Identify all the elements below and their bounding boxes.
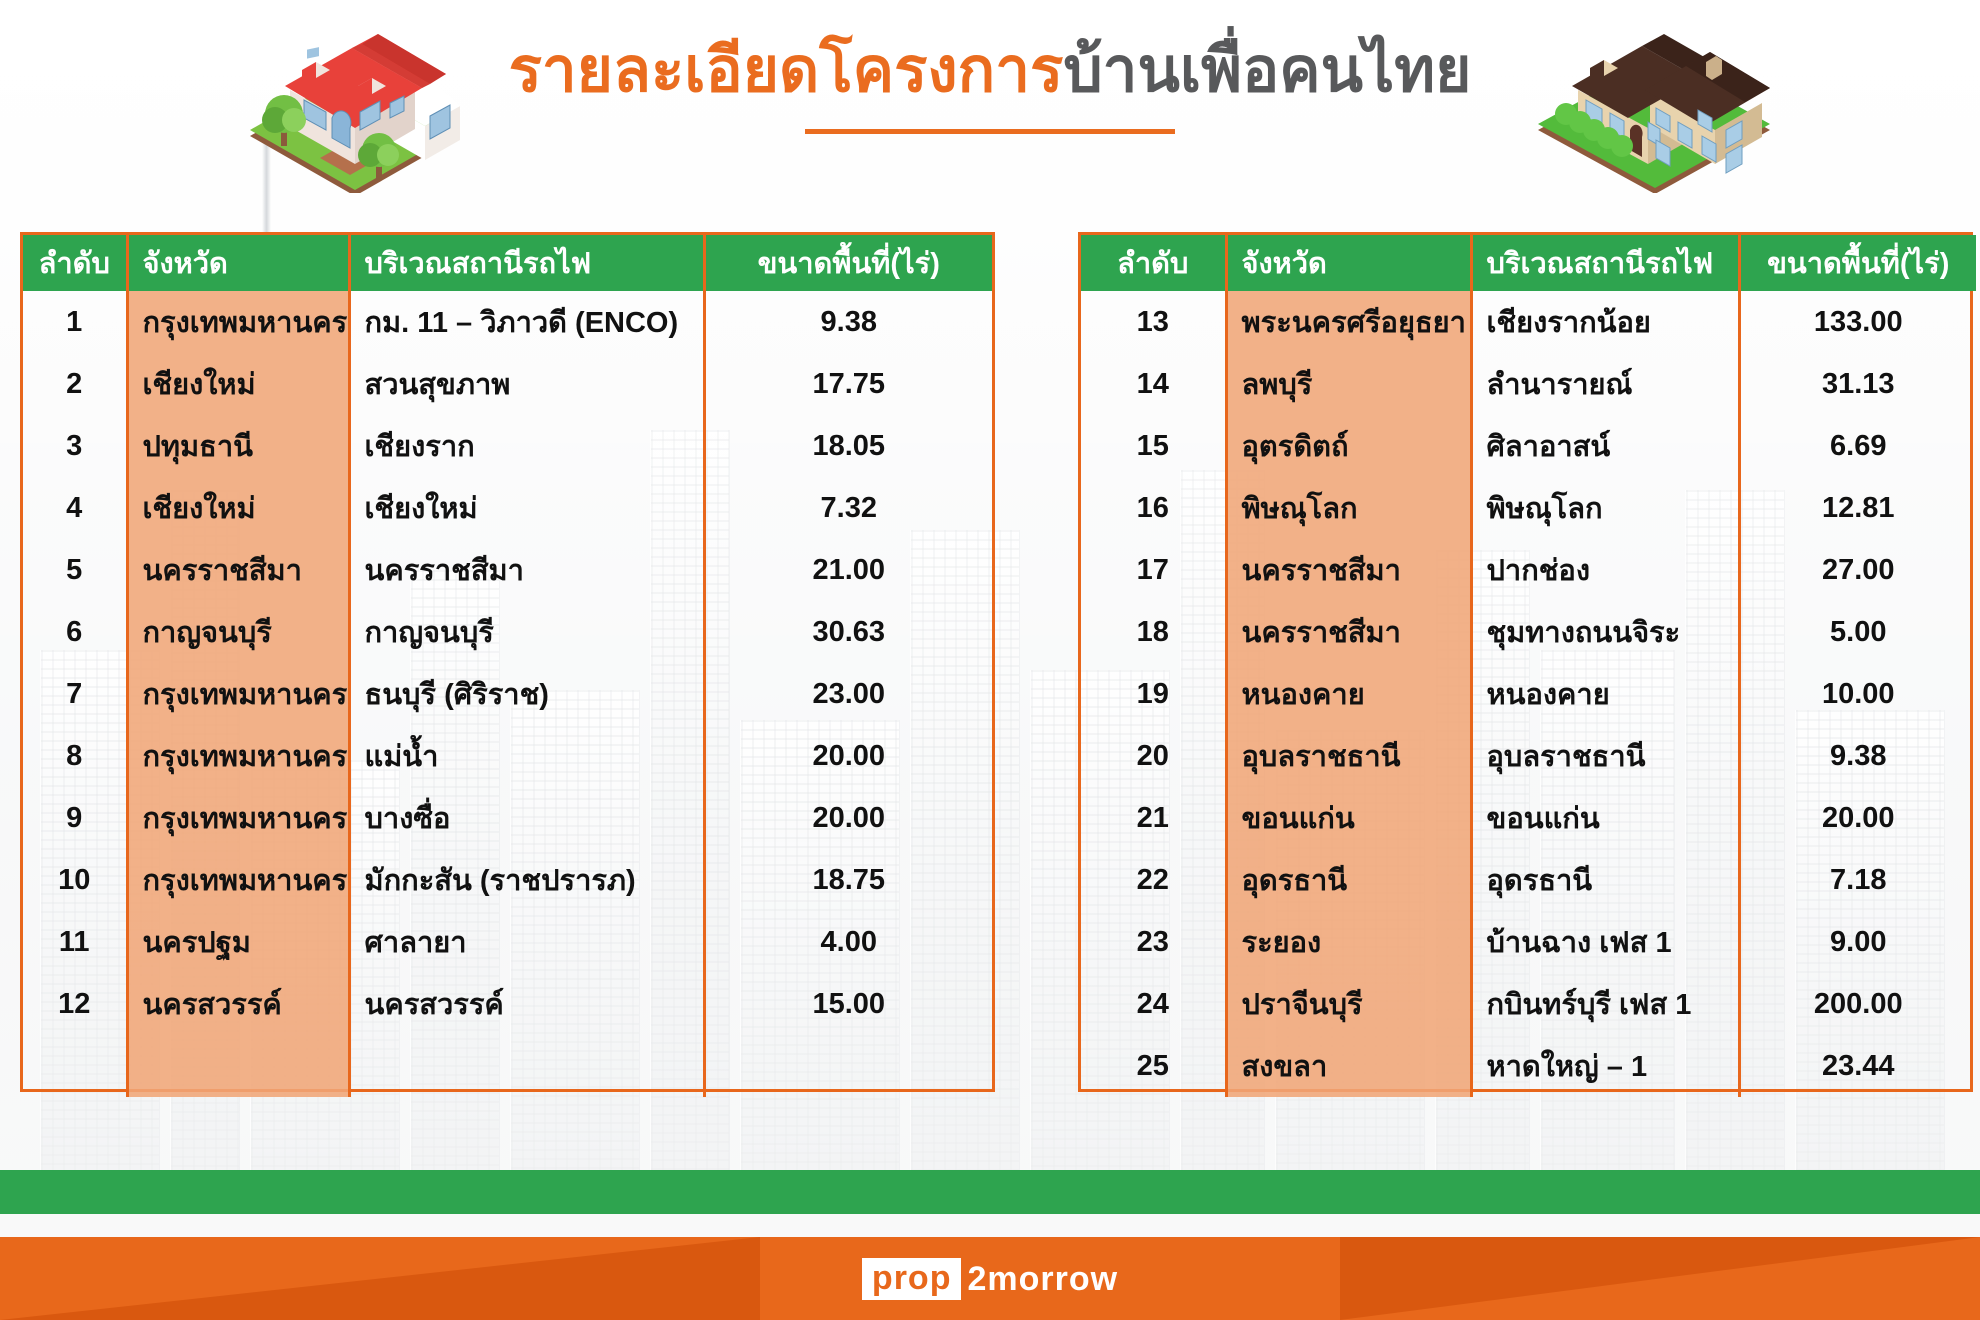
cell-area: 9.38 bbox=[1739, 725, 1976, 787]
cell-no: 21 bbox=[1081, 787, 1226, 849]
table-row: 14ลพบุรีลำนารายณ์31.13 bbox=[1081, 353, 1976, 415]
cell-area: 27.00 bbox=[1739, 539, 1976, 601]
table-row: 10กรุงเทพมหานครมักกะสัน (ราชปรารภ)18.75 bbox=[23, 849, 992, 911]
cell-station: ธนบุรี (ศิริราช) bbox=[349, 663, 704, 725]
page-title-orange: รายละเอียดโครงการ bbox=[509, 36, 1064, 105]
cell-area: 30.63 bbox=[704, 601, 992, 663]
cell-area: 4.00 bbox=[704, 911, 992, 973]
table-right-header: ลำดับ จังหวัด บริเวณสถานีรถไฟ ขนาดพื้นที… bbox=[1081, 235, 1976, 291]
cell-area: 18.75 bbox=[704, 849, 992, 911]
table-left-header: ลำดับ จังหวัด บริเวณสถานีรถไฟ ขนาดพื้นที… bbox=[23, 235, 992, 291]
cell-no: 8 bbox=[23, 725, 127, 787]
cell-station: เชียงใหม่ bbox=[349, 477, 704, 539]
cell-province: อุบลราชธานี bbox=[1226, 725, 1471, 787]
cell-no: 9 bbox=[23, 787, 127, 849]
cell-no: 24 bbox=[1081, 973, 1226, 1035]
cell-no: 20 bbox=[1081, 725, 1226, 787]
cell-area: 7.32 bbox=[704, 477, 992, 539]
cell-area: 5.00 bbox=[1739, 601, 1976, 663]
filler-cell bbox=[704, 1035, 992, 1097]
column-header-no: ลำดับ bbox=[1081, 235, 1226, 291]
logo-2morrow-text: 2morrow bbox=[967, 1262, 1118, 1296]
cell-no: 13 bbox=[1081, 291, 1226, 353]
projects-table-left: ลำดับ จังหวัด บริเวณสถานีรถไฟ ขนาดพื้นที… bbox=[20, 232, 995, 1092]
table-row: 25สงขลาหาดใหญ่ – 123.44 bbox=[1081, 1035, 1976, 1097]
column-header-province: จังหวัด bbox=[1226, 235, 1471, 291]
column-header-station: บริเวณสถานีรถไฟ bbox=[349, 235, 704, 291]
cell-province: กรุงเทพมหานคร bbox=[127, 725, 349, 787]
cell-area: 20.00 bbox=[1739, 787, 1976, 849]
footer-green-band bbox=[0, 1170, 1980, 1214]
table-row: 4เชียงใหม่เชียงใหม่7.32 bbox=[23, 477, 992, 539]
column-header-area: ขนาดพื้นที่(ไร่) bbox=[704, 235, 992, 291]
cell-station: บ้านฉาง เฟส 1 bbox=[1471, 911, 1739, 973]
cell-area: 31.13 bbox=[1739, 353, 1976, 415]
cell-area: 6.69 bbox=[1739, 415, 1976, 477]
cell-area: 133.00 bbox=[1739, 291, 1976, 353]
cell-area: 7.18 bbox=[1739, 849, 1976, 911]
cell-station: ศิลาอาสน์ bbox=[1471, 415, 1739, 477]
table-row: 1กรุงเทพมหานครกม. 11 – วิภาวดี (ENCO)9.3… bbox=[23, 291, 992, 353]
column-header-area: ขนาดพื้นที่(ไร่) bbox=[1739, 235, 1976, 291]
cell-station: นครสวรรค์ bbox=[349, 973, 704, 1035]
cell-area: 18.05 bbox=[704, 415, 992, 477]
column-header-no: ลำดับ bbox=[23, 235, 127, 291]
cell-station: เชียงรากน้อย bbox=[1471, 291, 1739, 353]
cell-station: มักกะสัน (ราชปรารภ) bbox=[349, 849, 704, 911]
cell-area: 9.38 bbox=[704, 291, 992, 353]
cell-station: ลำนารายณ์ bbox=[1471, 353, 1739, 415]
cell-station: ชุมทางถนนจิระ bbox=[1471, 601, 1739, 663]
table-row: 13พระนครศรีอยุธยาเชียงรากน้อย133.00 bbox=[1081, 291, 1976, 353]
table-row: 8กรุงเทพมหานครแม่น้ำ20.00 bbox=[23, 725, 992, 787]
table-row: 16พิษณุโลกพิษณุโลก12.81 bbox=[1081, 477, 1976, 539]
table-right: ลำดับ จังหวัด บริเวณสถานีรถไฟ ขนาดพื้นที… bbox=[1081, 235, 1976, 1097]
cell-no: 23 bbox=[1081, 911, 1226, 973]
cell-province: ลพบุรี bbox=[1226, 353, 1471, 415]
cell-station: หาดใหญ่ – 1 bbox=[1471, 1035, 1739, 1097]
brand-logo: prop2morrow bbox=[0, 1237, 1980, 1320]
cell-no: 2 bbox=[23, 353, 127, 415]
cell-no: 19 bbox=[1081, 663, 1226, 725]
cell-station: อุดรธานี bbox=[1471, 849, 1739, 911]
cell-area: 17.75 bbox=[704, 353, 992, 415]
cell-area: 21.00 bbox=[704, 539, 992, 601]
cell-area: 23.00 bbox=[704, 663, 992, 725]
cell-area: 20.00 bbox=[704, 787, 992, 849]
cell-province: ปราจีนบุรี bbox=[1226, 973, 1471, 1035]
table-row: 17นครราชสีมาปากช่อง27.00 bbox=[1081, 539, 1976, 601]
cell-no: 12 bbox=[23, 973, 127, 1035]
cell-area: 15.00 bbox=[704, 973, 992, 1035]
column-header-station: บริเวณสถานีรถไฟ bbox=[1471, 235, 1739, 291]
table-row: 19หนองคายหนองคาย10.00 bbox=[1081, 663, 1976, 725]
cell-no: 17 bbox=[1081, 539, 1226, 601]
table-row: 23ระยองบ้านฉาง เฟส 19.00 bbox=[1081, 911, 1976, 973]
cell-no: 6 bbox=[23, 601, 127, 663]
cell-no: 11 bbox=[23, 911, 127, 973]
cell-province: นครราชสีมา bbox=[1226, 601, 1471, 663]
cell-station: อุบลราชธานี bbox=[1471, 725, 1739, 787]
cell-area: 9.00 bbox=[1739, 911, 1976, 973]
cell-no: 3 bbox=[23, 415, 127, 477]
cell-station: เชียงราก bbox=[349, 415, 704, 477]
cell-province: อุตรดิตถ์ bbox=[1226, 415, 1471, 477]
table-row: 3ปทุมธานีเชียงราก18.05 bbox=[23, 415, 992, 477]
cell-province: พระนครศรีอยุธยา bbox=[1226, 291, 1471, 353]
cell-province: ขอนแก่น bbox=[1226, 787, 1471, 849]
cell-province: หนองคาย bbox=[1226, 663, 1471, 725]
table-row: 2เชียงใหม่สวนสุขภาพ17.75 bbox=[23, 353, 992, 415]
cell-station: บางซื่อ bbox=[349, 787, 704, 849]
cell-province: กรุงเทพมหานคร bbox=[127, 291, 349, 353]
header-row: ลำดับ จังหวัด บริเวณสถานีรถไฟ ขนาดพื้นที… bbox=[23, 235, 992, 291]
table-row: 9กรุงเทพมหานครบางซื่อ20.00 bbox=[23, 787, 992, 849]
filler-cell bbox=[23, 1035, 127, 1097]
column-header-province: จังหวัด bbox=[127, 235, 349, 291]
cell-no: 16 bbox=[1081, 477, 1226, 539]
cell-province: ระยอง bbox=[1226, 911, 1471, 973]
cell-province: กาญจนบุรี bbox=[127, 601, 349, 663]
cell-no: 22 bbox=[1081, 849, 1226, 911]
cell-station: ปากช่อง bbox=[1471, 539, 1739, 601]
cell-no: 15 bbox=[1081, 415, 1226, 477]
cell-province: นครสวรรค์ bbox=[127, 973, 349, 1035]
table-row: 20อุบลราชธานีอุบลราชธานี9.38 bbox=[1081, 725, 1976, 787]
page-title-gray: บ้านเพื่อคนไทย bbox=[1063, 36, 1471, 105]
table-row: 24ปราจีนบุรีกบินทร์บุรี เฟส 1200.00 bbox=[1081, 973, 1976, 1035]
cell-no: 7 bbox=[23, 663, 127, 725]
cell-station: แม่น้ำ bbox=[349, 725, 704, 787]
table-left: ลำดับ จังหวัด บริเวณสถานีรถไฟ ขนาดพื้นที… bbox=[23, 235, 992, 1097]
projects-table-right: ลำดับ จังหวัด บริเวณสถานีรถไฟ ขนาดพื้นที… bbox=[1078, 232, 1973, 1092]
cell-station: นครราชสีมา bbox=[349, 539, 704, 601]
logo-prop-text: prop bbox=[862, 1258, 962, 1300]
table-left-body: 1กรุงเทพมหานครกม. 11 – วิภาวดี (ENCO)9.3… bbox=[23, 291, 992, 1097]
cell-station: กม. 11 – วิภาวดี (ENCO) bbox=[349, 291, 704, 353]
cell-no: 18 bbox=[1081, 601, 1226, 663]
cell-no: 25 bbox=[1081, 1035, 1226, 1097]
cell-station: หนองคาย bbox=[1471, 663, 1739, 725]
cell-station: สวนสุขภาพ bbox=[349, 353, 704, 415]
cell-no: 5 bbox=[23, 539, 127, 601]
title-block: รายละเอียดโครงการบ้านเพื่อคนไทย bbox=[0, 38, 1980, 134]
table-row: 18นครราชสีมาชุมทางถนนจิระ5.00 bbox=[1081, 601, 1976, 663]
cell-station: กาญจนบุรี bbox=[349, 601, 704, 663]
page-title: รายละเอียดโครงการบ้านเพื่อคนไทย bbox=[0, 38, 1980, 103]
cell-station: ขอนแก่น bbox=[1471, 787, 1739, 849]
cell-province: ปทุมธานี bbox=[127, 415, 349, 477]
cell-province: กรุงเทพมหานคร bbox=[127, 663, 349, 725]
cell-province: เชียงใหม่ bbox=[127, 477, 349, 539]
table-row: 6กาญจนบุรีกาญจนบุรี30.63 bbox=[23, 601, 992, 663]
cell-area: 10.00 bbox=[1739, 663, 1976, 725]
table-row: 12นครสวรรค์นครสวรรค์15.00 bbox=[23, 973, 992, 1035]
table-filler-row bbox=[23, 1035, 992, 1097]
cell-area: 12.81 bbox=[1739, 477, 1976, 539]
cell-station: ศาลายา bbox=[349, 911, 704, 973]
cell-province: นครราชสีมา bbox=[1226, 539, 1471, 601]
table-right-body: 13พระนครศรีอยุธยาเชียงรากน้อย133.0014ลพบ… bbox=[1081, 291, 1976, 1097]
cell-area: 23.44 bbox=[1739, 1035, 1976, 1097]
cell-station: พิษณุโลก bbox=[1471, 477, 1739, 539]
cell-area: 200.00 bbox=[1739, 973, 1976, 1035]
cell-province: อุดรธานี bbox=[1226, 849, 1471, 911]
footer-orange-band: prop2morrow bbox=[0, 1237, 1980, 1320]
filler-cell bbox=[349, 1035, 704, 1097]
cell-province: พิษณุโลก bbox=[1226, 477, 1471, 539]
table-row: 11นครปฐมศาลายา4.00 bbox=[23, 911, 992, 973]
cell-province: นครปฐม bbox=[127, 911, 349, 973]
cell-no: 14 bbox=[1081, 353, 1226, 415]
header-row: ลำดับ จังหวัด บริเวณสถานีรถไฟ ขนาดพื้นที… bbox=[1081, 235, 1976, 291]
filler-cell bbox=[127, 1035, 349, 1097]
cell-no: 10 bbox=[23, 849, 127, 911]
cell-province: กรุงเทพมหานคร bbox=[127, 849, 349, 911]
table-row: 21ขอนแก่นขอนแก่น20.00 bbox=[1081, 787, 1976, 849]
cell-province: สงขลา bbox=[1226, 1035, 1471, 1097]
cell-no: 1 bbox=[23, 291, 127, 353]
table-row: 5นครราชสีมานครราชสีมา21.00 bbox=[23, 539, 992, 601]
cell-province: กรุงเทพมหานคร bbox=[127, 787, 349, 849]
cell-province: เชียงใหม่ bbox=[127, 353, 349, 415]
title-divider-rule bbox=[805, 129, 1175, 134]
cell-area: 20.00 bbox=[704, 725, 992, 787]
cell-station: กบินทร์บุรี เฟส 1 bbox=[1471, 973, 1739, 1035]
cell-province: นครราชสีมา bbox=[127, 539, 349, 601]
table-row: 15อุตรดิตถ์ศิลาอาสน์6.69 bbox=[1081, 415, 1976, 477]
table-row: 22อุดรธานีอุดรธานี7.18 bbox=[1081, 849, 1976, 911]
logo-mark: prop2morrow bbox=[862, 1258, 1118, 1300]
table-row: 7กรุงเทพมหานครธนบุรี (ศิริราช)23.00 bbox=[23, 663, 992, 725]
cell-no: 4 bbox=[23, 477, 127, 539]
